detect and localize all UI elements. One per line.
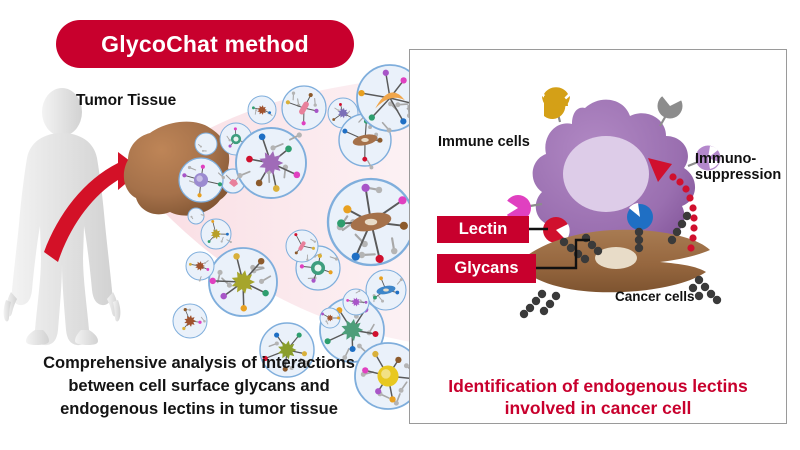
panel-caption-line-3: immunosuppression (410, 420, 786, 424)
tumor-tissue-label: Tumor Tissue (76, 92, 176, 110)
glyco-bubble (195, 133, 217, 155)
glyco-bubble (282, 86, 326, 130)
lectin-tag: Lectin (437, 216, 529, 243)
panel-caption-line-2: involved in cancer cell (410, 397, 786, 419)
glyco-bubble (286, 230, 318, 262)
immunosuppression-label-line1: Immuno- (695, 151, 781, 167)
glyco-bubble (366, 270, 406, 310)
left-caption: Comprehensive analysis of interactions b… (4, 352, 394, 420)
left-caption-line-1: Comprehensive analysis of interactions (4, 352, 394, 375)
left-caption-line-2: between cell surface glycans and (4, 375, 394, 398)
glyco-bubble (248, 96, 276, 124)
figure-root: GlycoChat method Tumor Tissue Comprehens… (0, 0, 800, 450)
panel-caption: Identification of endogenous lectins inv… (410, 375, 786, 424)
immunosuppression-label-line2: suppression (695, 167, 781, 183)
glyco-bubble (328, 179, 414, 265)
lectin-receptor-gold (542, 87, 570, 122)
glyco-bubble (188, 208, 204, 224)
method-title-label: GlycoChat method (101, 31, 309, 58)
glyco-bubble (201, 219, 232, 249)
glyco-bubble (236, 128, 306, 198)
panel-caption-line-1: Identification of endogenous lectins (410, 375, 786, 397)
glyco-bubble (320, 308, 340, 328)
left-caption-line-3: endogenous lectins in tumor tissue (4, 398, 394, 421)
immune-cells-label: Immune cells (438, 134, 530, 150)
method-title-badge: GlycoChat method (56, 20, 354, 68)
immunosuppression-label: Immuno- suppression (695, 151, 781, 183)
lectin-receptor-gray (658, 93, 683, 126)
glyco-bubble (173, 304, 207, 338)
glyco-bubble (179, 158, 225, 202)
cancer-cells-label: Cancer cells (615, 289, 695, 304)
glycans-tag: Glycans (437, 254, 536, 283)
glyco-bubble (343, 289, 369, 315)
glyco-bubble (209, 248, 277, 316)
mechanism-panel: Immune cells Cancer cells Immuno- suppre… (409, 49, 787, 424)
